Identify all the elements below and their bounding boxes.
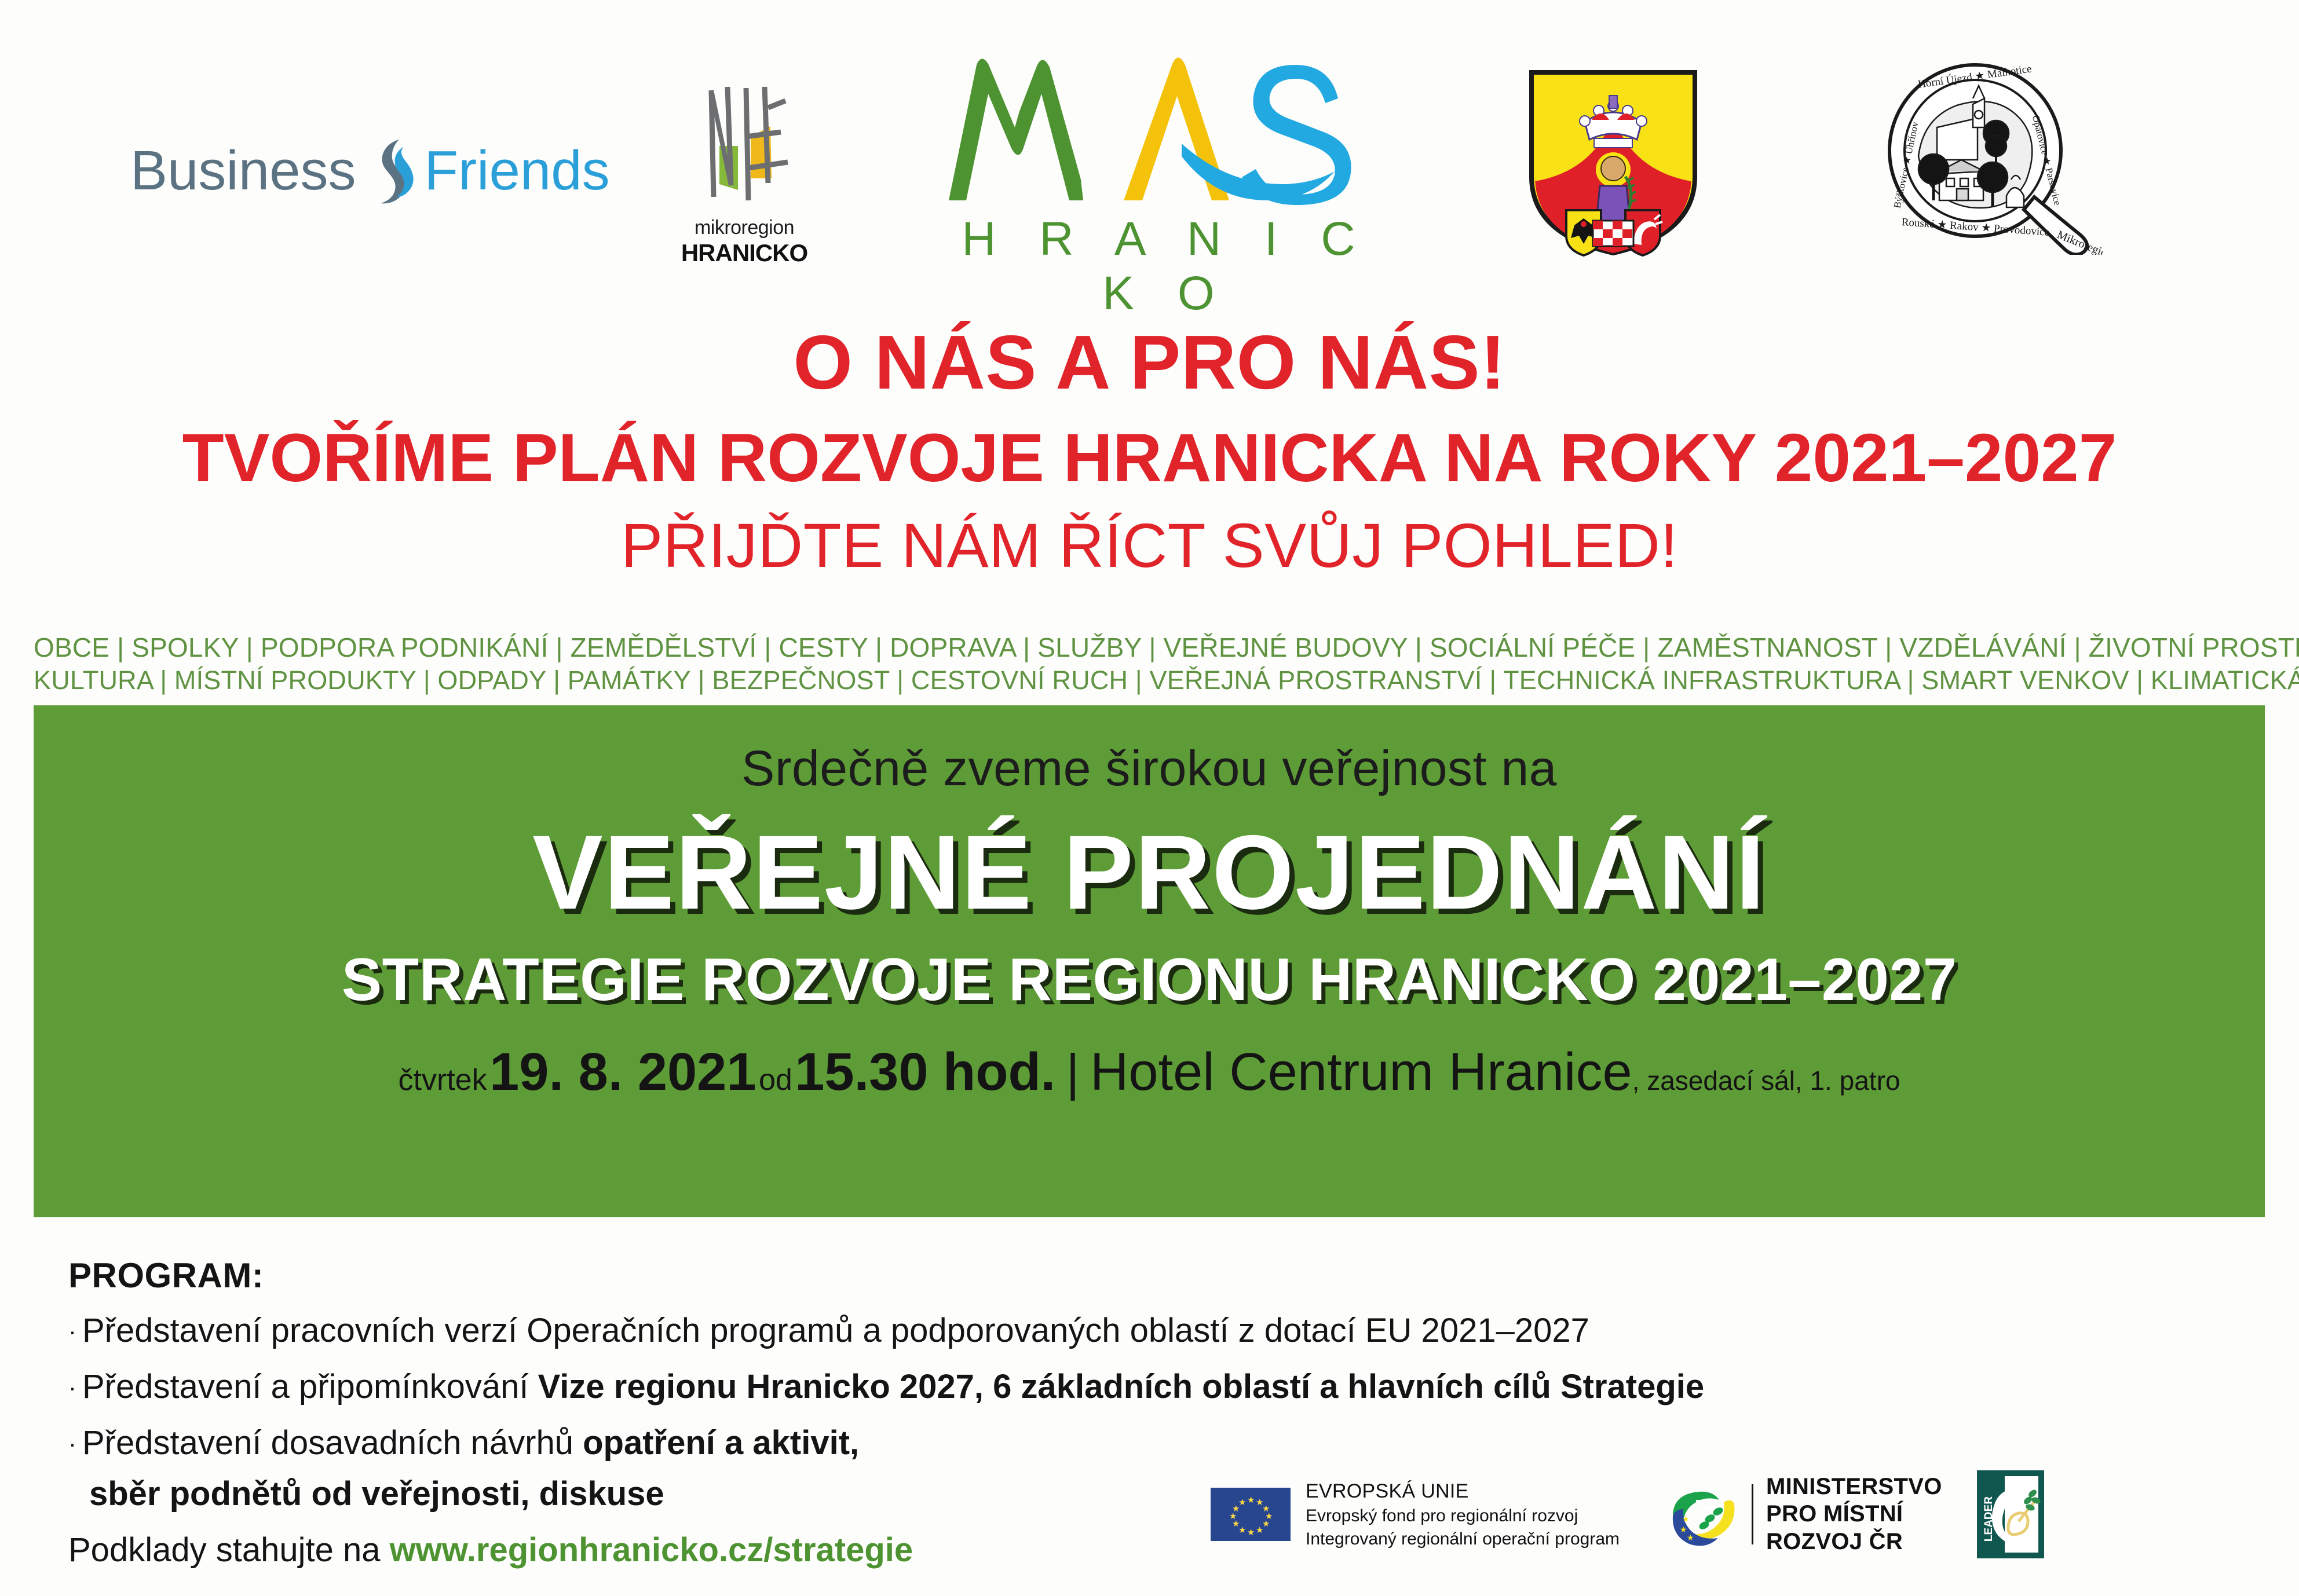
mmr-line-3: ROZVOJ ČR bbox=[1766, 1528, 1942, 1555]
program-item-2-text: Představení a připomínkování bbox=[82, 1368, 538, 1405]
svg-text:★: ★ bbox=[1687, 1533, 1694, 1542]
program-title: PROGRAM: bbox=[68, 1255, 1227, 1295]
hranice-coat-of-arms-icon bbox=[1523, 67, 1703, 258]
eu-line-1: EVROPSKÁ UNIE bbox=[1306, 1480, 1620, 1503]
download-line: Podklady stahujte na www.regionhranicko.… bbox=[68, 1530, 1227, 1571]
headline-tertiary: PŘIJĎTE NÁM ŘÍCT SVŮJ POHLED! bbox=[0, 514, 2299, 577]
mmr-line-1: MINISTERSTVO bbox=[1766, 1473, 1942, 1500]
event-venue: Hotel Centrum Hranice bbox=[1090, 1042, 1632, 1101]
logo-leader: LEADER bbox=[1975, 1468, 2046, 1561]
banner-datetime-venue: čtvrtek 19. 8. 2021 od 15.30 hod. | Hote… bbox=[34, 1042, 2265, 1103]
logo-business-friends: Business Friends bbox=[130, 136, 610, 206]
program-item-2: ·Představení a připomínkování Vize regio… bbox=[68, 1367, 1227, 1408]
headline-primary: O NÁS A PRO NÁS! bbox=[0, 324, 2299, 401]
banner-invite-text: Srdečně zveme širokou veřejnost na bbox=[34, 740, 2265, 797]
mh-monogram-icon bbox=[678, 81, 811, 214]
program-item-3: ·Představení dosavadních návrhů opatření… bbox=[68, 1423, 1227, 1464]
program-item-3-bold: opatření a aktivit, bbox=[583, 1424, 859, 1462]
headline-secondary: TVOŘÍME PLÁN ROZVOJE HRANICKA NA ROKY 20… bbox=[0, 424, 2299, 492]
event-banner: Srdečně zveme širokou veřejnost na VEŘEJ… bbox=[34, 705, 2265, 1217]
svg-text:★: ★ bbox=[1680, 1525, 1687, 1534]
program-section: PROGRAM: ·Představení pracovních verzí O… bbox=[68, 1255, 1227, 1571]
event-time: 15.30 hod. bbox=[795, 1042, 1055, 1101]
download-prefix: Podklady stahujte na bbox=[68, 1531, 390, 1569]
strategy-download-link[interactable]: www.regionhranicko.cz/strategie bbox=[390, 1531, 913, 1569]
program-item-1: ·Představení pracovních verzí Operačních… bbox=[68, 1311, 1227, 1352]
mikroregion-hranicko-line2: HRANICKO bbox=[672, 239, 817, 267]
program-bullet-3: · bbox=[68, 1430, 76, 1457]
eu-line-2: Evropský fond pro regionální rozvoj bbox=[1306, 1506, 1620, 1526]
venue-separator: | bbox=[1058, 1044, 1088, 1101]
leader-label: LEADER bbox=[1983, 1496, 1995, 1542]
banner-event-title: VEŘEJNÉ PROJEDNÁNÍ bbox=[34, 817, 2265, 928]
keyword-list: OBCE | SPOLKY | PODPORA PODNIKÁNÍ | ZEMĚ… bbox=[34, 631, 2265, 697]
business-friends-word2: Friends bbox=[425, 139, 610, 203]
event-weekday: čtvrtek bbox=[399, 1063, 487, 1097]
poster-root: Business Friends bbox=[0, 0, 2299, 1596]
mikroregion-hranicko-line1: mikroregion bbox=[672, 217, 817, 239]
mmr-line-2: PRO MÍSTNÍ bbox=[1766, 1500, 1942, 1528]
event-od-label: od bbox=[759, 1063, 792, 1097]
mmr-text-block: MINISTERSTVO PRO MÍSTNÍ ROZVOJ ČR bbox=[1766, 1473, 1942, 1555]
headline-block: O NÁS A PRO NÁS! TVOŘÍME PLÁN ROZVOJE HR… bbox=[0, 324, 2299, 577]
program-item-3-text: Představení dosavadních návrhů bbox=[82, 1424, 583, 1462]
keyword-line-1: OBCE | SPOLKY | PODPORA PODNIKÁNÍ | ZEMĚ… bbox=[34, 631, 2265, 664]
logo-ministry-regional-development: ★ ★ ★ MINISTERSTVO bbox=[1669, 1473, 1942, 1555]
keyword-line-2: KULTURA | MÍSTNÍ PRODUKTY | ODPADY | PAM… bbox=[34, 664, 2265, 697]
program-item-2-bold: Vize regionu Hranicko 2027, 6 základních… bbox=[538, 1368, 1705, 1405]
footer-logo-bar: ★ ★ ★ ★ ★ ★ ★ ★ ★ ★ ★ ★ EVROPSKÁ UNIE Ev… bbox=[1211, 1448, 2282, 1581]
mas-mountains-icon bbox=[938, 41, 1379, 208]
logo-mikroregion-hranicko: mikroregion HRANICKO bbox=[672, 81, 817, 267]
program-item-3-continuation: sběr podnětů od veřejnosti, diskuse bbox=[68, 1474, 1227, 1515]
business-friends-word1: Business bbox=[130, 139, 356, 203]
leader-logo-icon: LEADER bbox=[1975, 1468, 2046, 1561]
program-bullet-1: · bbox=[68, 1317, 76, 1345]
event-date: 19. 8. 2021 bbox=[489, 1042, 756, 1101]
mas-hranicko-wordmark: H R A N I C K O bbox=[915, 212, 1402, 321]
eu-text-block: EVROPSKÁ UNIE Evropský fond pro regionál… bbox=[1306, 1480, 1620, 1549]
mmr-logo-icon: ★ ★ ★ bbox=[1669, 1480, 1739, 1549]
logo-mas-hranicko: H R A N I C K O bbox=[915, 41, 1402, 321]
program-item-1-text: Představení pracovních verzí Operačních … bbox=[82, 1312, 1589, 1349]
event-venue-detail: , zasedací sál, 1. patro bbox=[1632, 1066, 1900, 1096]
svg-text:★: ★ bbox=[1682, 1514, 1690, 1524]
mikroregion-zahoran-seal-icon: Horní Újezd ★ Malhotice Rouské ★ Rakov ★… bbox=[1883, 58, 2103, 255]
eu-line-3: Integrovaný regionální operační program bbox=[1306, 1529, 1620, 1549]
s-swoosh-icon bbox=[365, 136, 415, 206]
logo-european-union: ★ ★ ★ ★ ★ ★ ★ ★ ★ ★ ★ ★ EVROPSKÁ UNIE Ev… bbox=[1211, 1480, 1620, 1549]
eu-flag-icon: ★ ★ ★ ★ ★ ★ ★ ★ ★ ★ ★ ★ bbox=[1211, 1488, 1291, 1541]
logo-bar: Business Friends bbox=[0, 35, 2299, 255]
banner-event-subtitle: STRATEGIE ROZVOJE REGIONU HRANICKO 2021–… bbox=[34, 949, 2265, 1012]
program-bullet-2: · bbox=[68, 1374, 76, 1401]
mmr-divider bbox=[1752, 1484, 1753, 1544]
